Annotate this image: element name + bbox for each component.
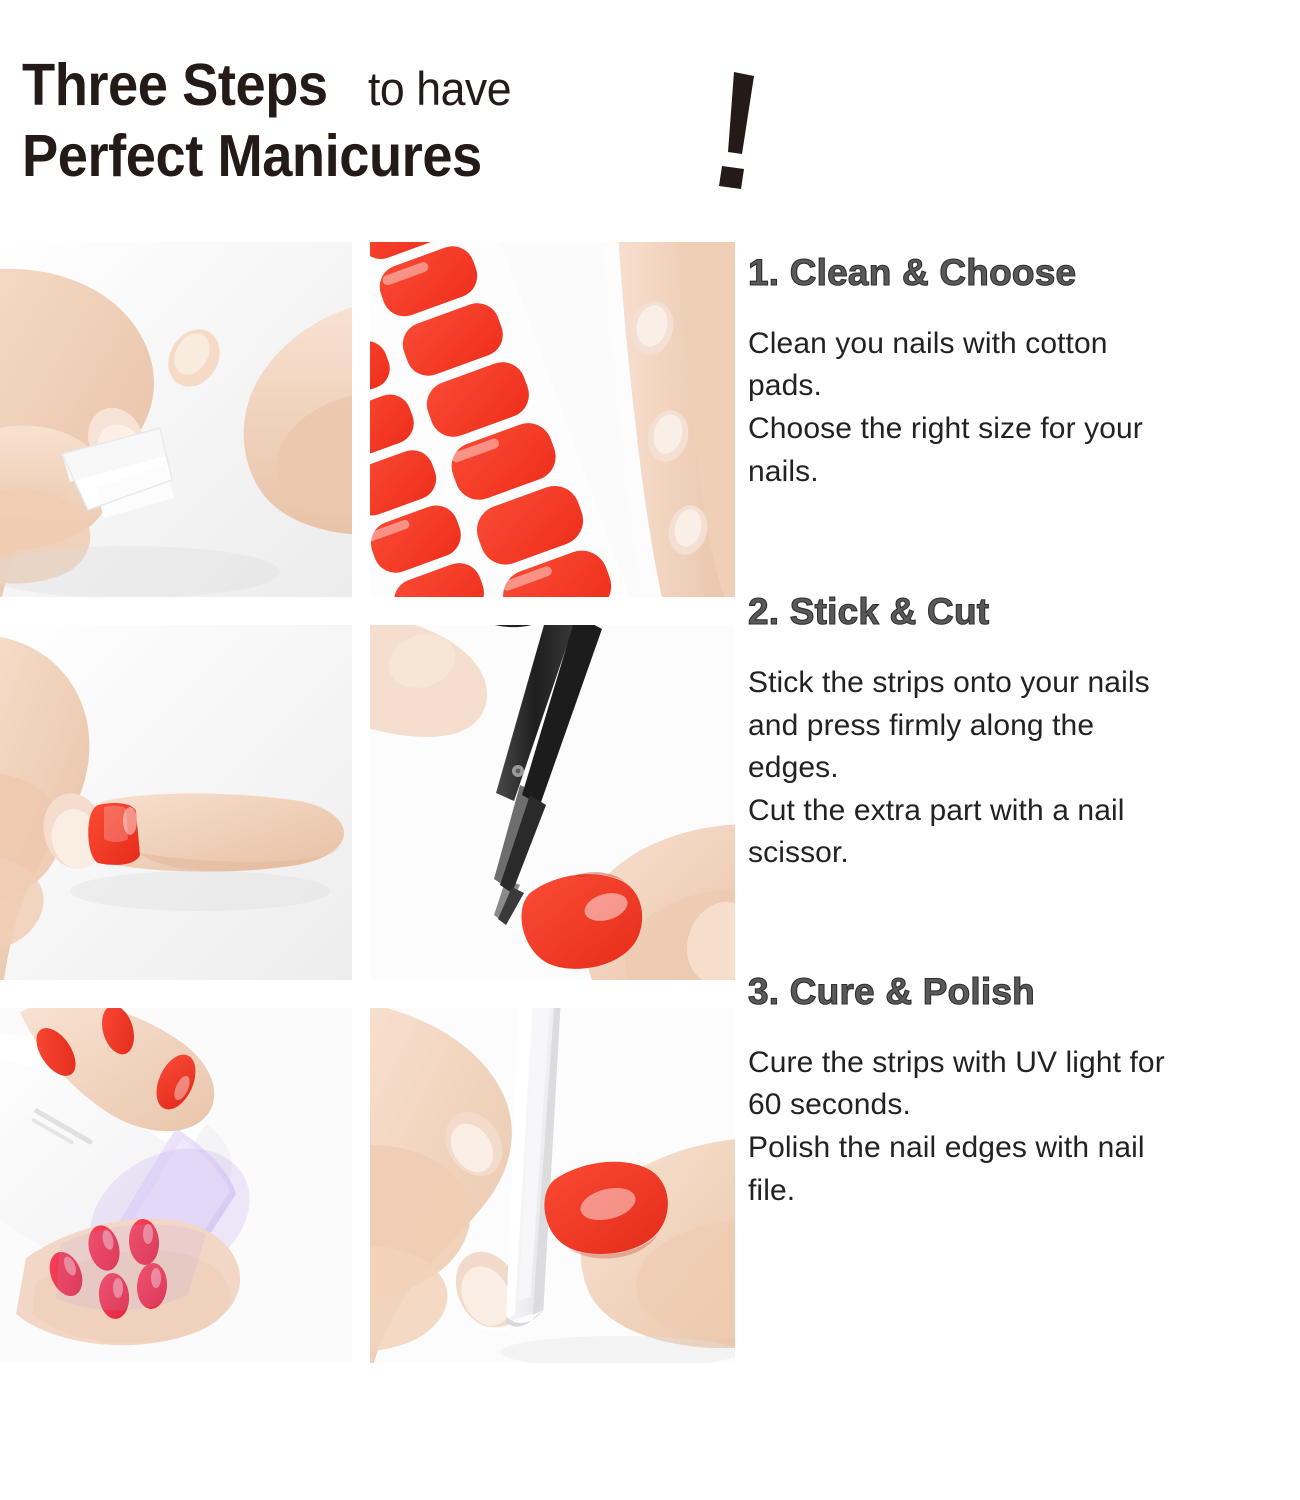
steps-column: 1. Clean & Choose Clean you nails with c… xyxy=(748,242,1300,1212)
step-2-line-3: edges. xyxy=(748,747,1300,790)
step-2-body: Stick the strips onto your nails and pre… xyxy=(748,662,1300,875)
headline-three-steps: Three Steps xyxy=(22,56,328,115)
step-1-line-3: Choose the right size for your xyxy=(748,408,1300,451)
headline-line-2: Perfect Manicures xyxy=(22,127,802,186)
step-1-line-4: nails. xyxy=(748,451,1300,494)
photo-polish-edges-with-file xyxy=(370,1008,735,1363)
step-3-line-1: Cure the strips with UV light for xyxy=(748,1042,1300,1085)
step-2-line-2: and press firmly along the xyxy=(748,705,1300,748)
step-3-line-3: Polish the nail edges with nail xyxy=(748,1127,1300,1170)
step-1-body: Clean you nails with cotton pads. Choose… xyxy=(748,323,1300,493)
instruction-infographic: Three Stepsto have Perfect Manicures xyxy=(0,0,1300,1500)
step-2: 2. Stick & Cut Stick the strips onto you… xyxy=(748,593,1300,875)
step-2-title: 2. Stick & Cut xyxy=(748,593,1300,632)
headline-line-1: Three Stepsto have xyxy=(22,56,802,115)
photo-cure-under-uv-lamp xyxy=(0,1008,352,1363)
step-3: 3. Cure & Polish Cure the strips with UV… xyxy=(748,973,1300,1212)
exclamation-mark-icon xyxy=(700,62,780,192)
step-2-line-4: Cut the extra part with a nail xyxy=(748,790,1300,833)
headline-perfect-manicures: Perfect Manicures xyxy=(22,127,482,186)
step-1-line-1: Clean you nails with cotton xyxy=(748,323,1300,366)
step-3-line-4: file. xyxy=(748,1170,1300,1213)
photo-red-nail-strip-sheet xyxy=(370,242,735,597)
headline: Three Stepsto have Perfect Manicures xyxy=(22,56,802,186)
step-2-line-1: Stick the strips onto your nails xyxy=(748,662,1300,705)
step-3-title: 3. Cure & Polish xyxy=(748,973,1300,1012)
headline-to-have: to have xyxy=(368,65,511,112)
step-1-title: 1. Clean & Choose xyxy=(748,254,1300,293)
step-3-line-2: 60 seconds. xyxy=(748,1084,1300,1127)
photo-row-step-2 xyxy=(0,625,735,980)
step-2-line-5: scissor. xyxy=(748,832,1300,875)
photo-cut-extra-with-scissor xyxy=(370,625,735,980)
photo-clean-nail-with-cotton-pad xyxy=(0,242,352,597)
photo-stick-strip-on-nail xyxy=(0,625,352,980)
step-1: 1. Clean & Choose Clean you nails with c… xyxy=(748,254,1300,493)
photo-grid xyxy=(0,242,735,1391)
step-1-line-2: pads. xyxy=(748,365,1300,408)
photo-row-step-1 xyxy=(0,242,735,597)
photo-row-step-3 xyxy=(0,1008,735,1363)
step-3-body: Cure the strips with UV light for 60 sec… xyxy=(748,1042,1300,1212)
